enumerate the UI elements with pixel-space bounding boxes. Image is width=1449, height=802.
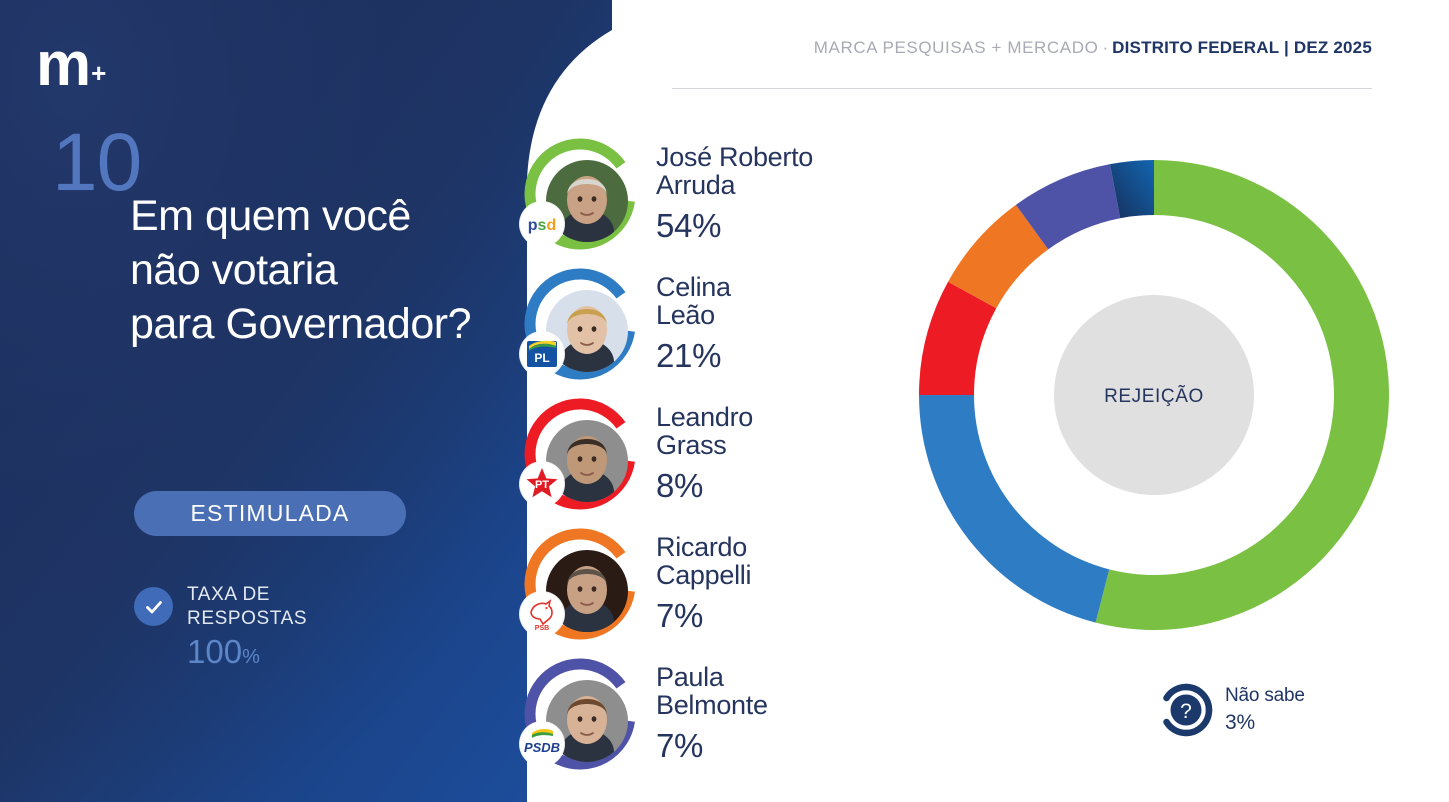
header-scope: DISTRITO FEDERAL | DEZ 2025 [1112,38,1372,57]
candidate-info: RicardoCappelli7% [656,534,751,636]
svg-text:PSDB: PSDB [524,740,560,755]
header-separator: · [1102,38,1108,57]
candidate-percentage: 7% [656,725,768,766]
candidate-name: CelinaLeão [656,274,731,330]
candidate-name: PaulaBelmonte [656,664,768,720]
question-title-line-3: para Governador? [130,298,560,352]
party-badge-psb-icon: PSB [520,592,564,636]
response-rate-label-line-2: RESPOSTAS [187,607,307,631]
question-title-line-1: Em quem você [130,190,560,244]
candidate-avatar: psd [512,130,648,260]
candidate-avatar: PSDB [512,650,648,780]
check-icon [134,587,173,626]
legend-value: 3% [1225,709,1305,736]
candidate-name-line-1: Leandro [656,404,753,432]
logo-plus-sign: + [91,60,104,86]
donut-svg [893,142,1415,652]
candidate-name-line-2: Leão [656,302,731,330]
candidate-percentage: 21% [656,335,731,376]
candidate-info: José RobertoArruda54% [656,144,813,246]
legend-text: Não sabe 3% [1225,684,1305,736]
candidate-percentage: 54% [656,205,813,246]
svg-text:PL: PL [534,351,549,365]
svg-text:PSB: PSB [535,625,549,632]
candidate-avatar: PL [512,260,648,390]
brand-logo: m+ [36,34,104,96]
candidate-row: psdJosé RobertoArruda54% [512,130,932,260]
survey-mode-badge: ESTIMULADA [134,491,406,536]
candidate-percentage: 7% [656,595,751,636]
candidate-avatar: PT [512,390,648,520]
candidate-name-line-2: Grass [656,432,753,460]
question-number: 10 [52,122,141,204]
question-title: Em quem você não votaria para Governador… [130,190,560,351]
legend-nao-sabe: ? Não sabe 3% [1158,682,1305,738]
response-rate-label-line-1: TAXA DE [187,583,307,607]
candidate-row: PSDBPaulaBelmonte7% [512,650,932,780]
candidate-percentage: 8% [656,465,753,506]
logo-letter-m: m [36,34,89,96]
response-rate-unit: % [242,646,260,668]
candidate-avatar: PSB [512,520,648,650]
donut-center-disc [1054,295,1254,495]
question-mark-icon: ? [1158,682,1214,738]
response-rate-number: 100 [187,633,242,670]
header-source: MARCA PESQUISAS + MERCADO [814,38,1099,57]
report-header: MARCA PESQUISAS + MERCADO·DISTRITO FEDER… [672,38,1372,58]
candidate-name-line-1: José Roberto [656,144,813,172]
party-badge-psdb-icon: PSDB [520,722,564,766]
candidate-row: PLCelinaLeão21% [512,260,932,390]
candidate-name: José RobertoArruda [656,144,813,200]
response-rate-label: TAXA DE RESPOSTAS [187,583,307,632]
candidate-list: psdJosé RobertoArruda54%PLCelinaLeão21%P… [512,130,932,802]
candidate-row: PSBRicardoCappelli7% [512,520,932,650]
candidate-name-line-2: Arruda [656,172,813,200]
candidate-info: PaulaBelmonte7% [656,664,768,766]
candidate-name-line-1: Ricardo [656,534,751,562]
candidate-name-line-2: Cappelli [656,562,751,590]
legend-label: Não sabe [1225,684,1305,709]
svg-text:PT: PT [535,479,549,491]
response-rate-block: TAXA DE RESPOSTAS 100% [134,583,307,670]
response-rate-value: 100% [187,634,307,670]
candidate-row: PTLeandroGrass8% [512,390,932,520]
candidate-info: LeandroGrass8% [656,404,753,506]
svg-text:?: ? [1180,700,1192,723]
party-badge-psd-icon: psd [520,202,564,246]
candidate-name-line-2: Belmonte [656,692,768,720]
candidate-info: CelinaLeão21% [656,274,731,376]
candidate-name: RicardoCappelli [656,534,751,590]
header-divider [672,88,1372,89]
candidate-name-line-1: Paula [656,664,768,692]
candidate-name: LeandroGrass [656,404,753,460]
rejection-donut-chart: REJEIÇÃO [893,142,1415,652]
party-badge-pl-icon: PL [520,332,564,376]
party-badge-pt-icon: PT [520,462,564,506]
candidate-name-line-1: Celina [656,274,731,302]
question-title-line-2: não votaria [130,244,560,298]
svg-text:psd: psd [528,217,556,234]
